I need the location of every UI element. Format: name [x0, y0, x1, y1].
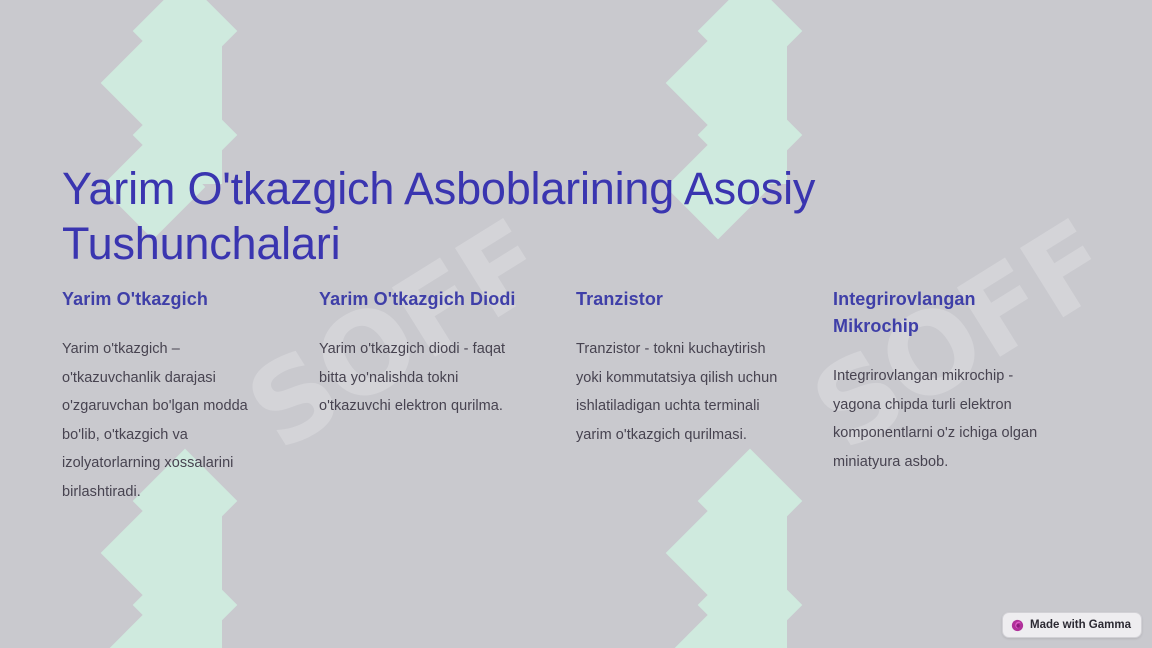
concept-columns: Yarim O'tkazgich Yarim o'tkazgich – o'tk…: [62, 286, 1090, 507]
column-heading: Integrirovlangan Mikrochip: [833, 286, 1047, 340]
column-heading: Yarim O'tkazgich Diodi: [319, 286, 533, 313]
column-heading: Yarim O'tkazgich: [62, 286, 276, 313]
slide: SOFF SOFF SOFF SOFF SOFF: [0, 0, 1152, 648]
column-body: Yarim o'tkazgich diodi - faqat bitta yo'…: [319, 335, 533, 421]
column-body: Yarim o'tkazgich – o'tkazuvchanlik daraj…: [62, 335, 276, 507]
badge-label: Made with Gamma: [1030, 619, 1131, 631]
concept-column: Tranzistor Tranzistor - tokni kuchaytiri…: [576, 286, 833, 507]
column-body: Integrirovlangan mikrochip - yagona chip…: [833, 362, 1047, 476]
concept-column: Yarim O'tkazgich Diodi Yarim o'tkazgich …: [319, 286, 576, 507]
gamma-logo-icon: [1011, 619, 1024, 632]
concept-column: Yarim O'tkazgich Yarim o'tkazgich – o'tk…: [62, 286, 319, 507]
concept-column: Integrirovlangan Mikrochip Integrirovlan…: [833, 286, 1090, 507]
page-title: Yarim O'tkazgich Asboblarining Asosiy Tu…: [62, 161, 962, 271]
made-with-gamma-badge[interactable]: Made with Gamma: [1002, 612, 1142, 638]
slide-content: Yarim O'tkazgich Asboblarining Asosiy Tu…: [0, 0, 1152, 648]
column-heading: Tranzistor: [576, 286, 790, 313]
column-body: Tranzistor - tokni kuchaytirish yoki kom…: [576, 335, 790, 449]
